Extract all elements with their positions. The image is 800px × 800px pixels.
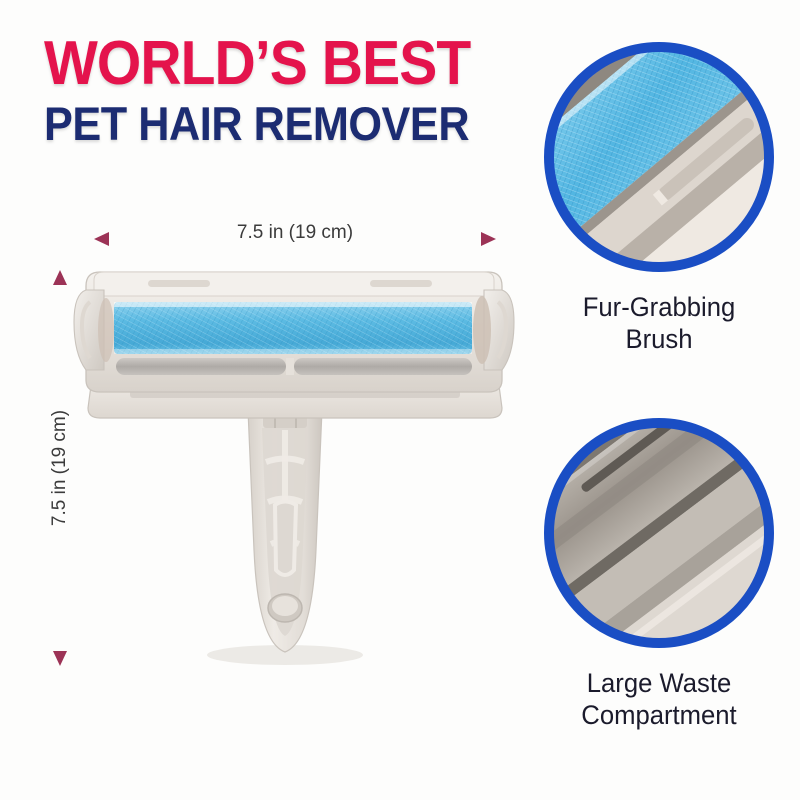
fur-grabbing-brush-strip: [114, 302, 472, 354]
callout-label-line-1: Large Waste: [540, 668, 778, 700]
callout-label-line-1: Fur-Grabbing: [540, 292, 778, 324]
callout-large-waste-compartment-label: Large Waste Compartment: [540, 668, 778, 732]
callout-fur-grabbing-brush-image: [534, 32, 784, 282]
headline-primary: WORLD’S BEST: [44, 34, 476, 95]
lid-vent-right: [370, 280, 432, 287]
callout-fur-grabbing-brush-label: Fur-Grabbing Brush: [540, 292, 778, 356]
headline-secondary: PET HAIR REMOVER: [44, 99, 476, 148]
roller-end-cap-right: [473, 290, 514, 370]
product-handle: [248, 410, 322, 652]
lid-vent-left: [148, 280, 210, 287]
headline-block: WORLD’S BEST PET HAIR REMOVER: [44, 34, 514, 148]
height-dimension-label: 7.5 in (19 cm): [49, 401, 71, 535]
callout-label-line-2: Compartment: [540, 700, 778, 732]
callout-label-line-2: Brush: [540, 324, 778, 356]
product-infographic: WORLD’S BEST PET HAIR REMOVER 7.5 in (19…: [0, 0, 800, 800]
roller-grey-bar: [116, 358, 472, 375]
product-image: [70, 250, 520, 670]
callout-large-waste-compartment: Large Waste Compartment: [534, 408, 784, 732]
callout-fur-grabbing-brush: Fur-Grabbing Brush: [534, 32, 784, 356]
width-dimension-label: 7.5 in (19 cm): [228, 222, 362, 244]
roller-housing: [74, 272, 514, 418]
callout-large-waste-compartment-image: [534, 408, 784, 658]
